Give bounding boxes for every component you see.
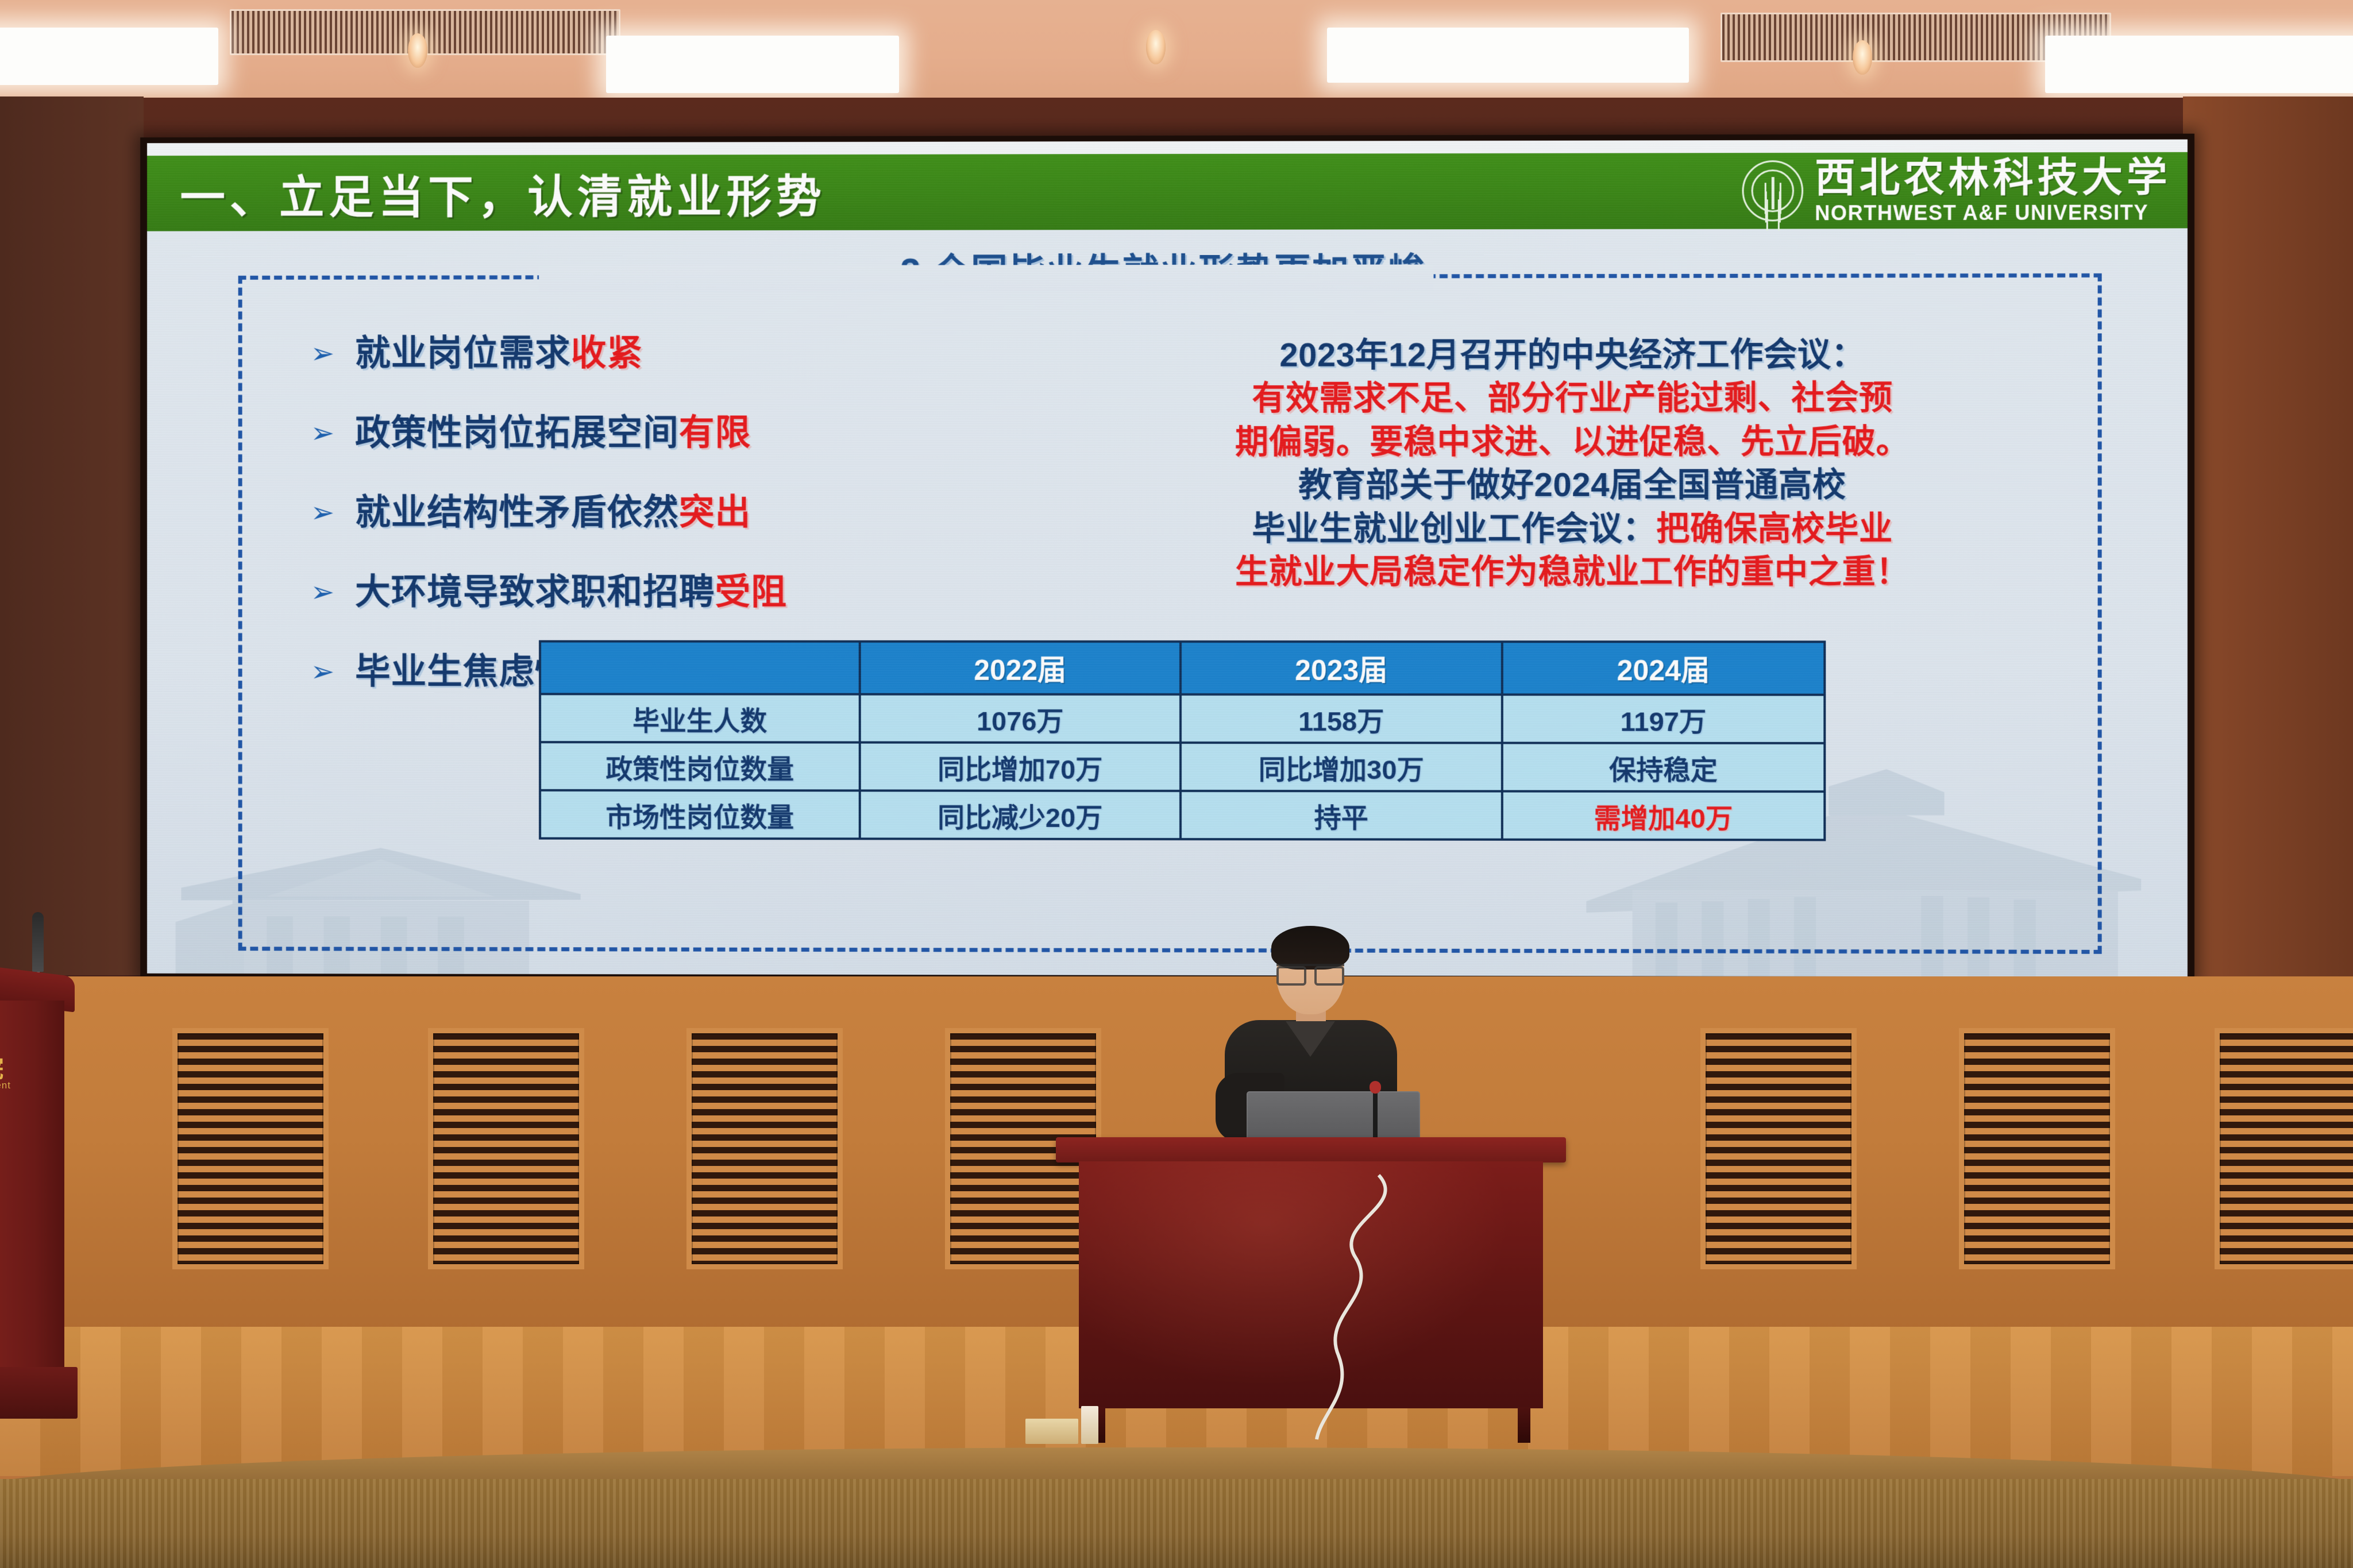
quote-line-2: 有效需求不足、部分行业产能过剩、社会预 <box>1123 376 2023 420</box>
lectern-podium: 院 ...ment <box>0 971 75 1436</box>
slide-title-band: 一、立足当下，认清就业形势 西北农林科技大学 NORTHWEST A&F UNI… <box>147 152 2188 231</box>
section-title: 一、立足当下，认清就业形势 <box>180 160 826 226</box>
table-cell: 同比增加30万 <box>1181 743 1502 791</box>
university-seal-icon <box>1742 160 1804 221</box>
desk-top <box>1056 1137 1566 1163</box>
presentation-slide: 一、立足当下，认清就业形势 西北农林科技大学 NORTHWEST A&F UNI… <box>147 140 2188 978</box>
ceiling-light-panel <box>606 36 899 93</box>
wall-vent-grille-icon <box>686 1028 843 1269</box>
table-cell: 1076万 <box>860 694 1181 743</box>
quote-line-3: 期偏弱。要稳中求进、以进促稳、先立后破。 <box>1123 420 2023 464</box>
bullet-highlight: 有限 <box>679 413 751 453</box>
chevron-right-icon: ➢ <box>311 339 335 368</box>
row-label: 政策性岗位数量 <box>540 742 860 790</box>
chevron-right-icon: ➢ <box>311 498 335 527</box>
ceiling-light-panel <box>1327 28 1689 83</box>
wall-vent-grille-icon <box>1700 1028 1857 1269</box>
upper-wall-left <box>0 96 144 975</box>
list-item: ➢ 就业岗位需求收紧 <box>311 323 1077 376</box>
quote-line-4: 教育部关于做好2024届全国普通高校 <box>1123 464 2023 507</box>
projection-screen: 一、立足当下，认清就业形势 西北农林科技大学 NORTHWEST A&F UNI… <box>140 134 2194 983</box>
wall-vent-grille-icon <box>172 1028 329 1269</box>
power-box-icon <box>1025 1419 1078 1444</box>
list-item: ➢ 大环境导致求职和招聘受阻 <box>311 563 1077 615</box>
ceiling-light-panel <box>2045 36 2353 93</box>
bullet-highlight: 收紧 <box>571 334 643 373</box>
bullet-label: 就业结构性矛盾依然突出 <box>355 483 751 535</box>
lectern-base <box>0 1367 78 1419</box>
wall-vent-grille-icon <box>2215 1028 2353 1269</box>
wall-vent-grille-icon <box>1959 1028 2115 1269</box>
university-name-cn: 西北农林科技大学 <box>1815 157 2171 198</box>
glasses-icon <box>1276 964 1344 979</box>
graduate-employment-table: 2022届 2023届 2024届 毕业生人数 1076万 1158万 1197… <box>539 640 1826 841</box>
table-cell-highlight: 需增加40万 <box>1502 791 1824 840</box>
slide-content-box: ➢ 就业岗位需求收紧 ➢ 政策性岗位拓展空间有限 ➢ 就业结构性矛盾依然突出 ➢… <box>238 273 2102 954</box>
university-brand: 西北农林科技大学 NORTHWEST A&F UNIVERSITY <box>1742 157 2171 224</box>
bullet-label: 政策性岗位拓展空间有限 <box>355 403 751 455</box>
subtitle-gap-mask <box>539 264 1434 292</box>
university-name-en: NORTHWEST A&F UNIVERSITY <box>1815 202 2171 223</box>
quote-line-1: 2023年12月召开的中央经济工作会议： <box>1123 333 2023 377</box>
row-label: 毕业生人数 <box>540 694 860 742</box>
table-row: 毕业生人数 1076万 1158万 1197万 <box>540 694 1824 743</box>
table-header-row: 2022届 2023届 2024届 <box>540 642 1824 695</box>
list-item: ➢ 就业结构性矛盾依然突出 <box>311 483 1077 535</box>
ceiling-light-panel <box>0 28 218 85</box>
table-cell: 同比增加70万 <box>860 743 1181 791</box>
presenter-hair <box>1271 926 1349 970</box>
table-header-2023: 2023届 <box>1181 642 1502 694</box>
table-cell: 持平 <box>1181 791 1502 840</box>
quote-line-6: 生就业大局稳定作为稳就业工作的重中之重！ <box>1123 550 2023 594</box>
table-row: 政策性岗位数量 同比增加70万 同比增加30万 保持稳定 <box>540 742 1824 791</box>
bullet-highlight: 受阻 <box>715 573 787 612</box>
chevron-right-icon: ➢ <box>311 657 335 686</box>
bullet-label: 大环境导致求职和招聘受阻 <box>355 563 787 615</box>
lectern-label-en: ...ment <box>0 1080 11 1091</box>
lectern-body: 院 ...ment <box>0 1001 64 1368</box>
bullet-label: 就业岗位需求收紧 <box>355 324 643 376</box>
ceiling-downlight-icon <box>1146 30 1166 64</box>
list-item: ➢ 政策性岗位拓展空间有限 <box>311 403 1077 455</box>
table-cell: 1158万 <box>1181 694 1502 743</box>
presenter-desk <box>1070 1137 1552 1447</box>
power-box-icon <box>1081 1406 1098 1444</box>
table-cell: 保持稳定 <box>1502 743 1824 791</box>
ceiling-downlight-icon <box>1853 40 1872 75</box>
desk-microphone-icon <box>1373 1090 1378 1143</box>
bullet-highlight: 突出 <box>679 493 751 532</box>
ceiling-downlight-icon <box>408 33 427 68</box>
policy-quote-block: 2023年12月召开的中央经济工作会议： 有效需求不足、部分行业产能过剩、社会预… <box>1123 333 2023 594</box>
table-row: 市场性岗位数量 同比减少20万 持平 需增加40万 <box>540 790 1824 840</box>
stage-apron <box>0 1479 2353 1568</box>
table-header-blank <box>540 642 860 694</box>
row-label: 市场性岗位数量 <box>540 790 860 839</box>
chevron-right-icon: ➢ <box>311 419 335 447</box>
table-header-2022: 2022届 <box>860 642 1181 694</box>
table-cell: 1197万 <box>1502 694 1824 743</box>
desk-front <box>1079 1161 1543 1408</box>
table-header-2024: 2024届 <box>1502 642 1824 694</box>
wall-vent-grille-icon <box>428 1028 584 1269</box>
ceiling <box>0 0 2353 102</box>
upper-wall-right <box>2183 96 2353 992</box>
lecture-hall-scene: 一、立足当下，认清就业形势 西北农林科技大学 NORTHWEST A&F UNI… <box>0 0 2353 1568</box>
microphone-icon <box>32 912 44 972</box>
chevron-right-icon: ➢ <box>311 578 335 607</box>
table-cell: 同比减少20万 <box>860 790 1181 839</box>
desk-leg <box>1518 1407 1530 1443</box>
quote-line-5: 毕业生就业创业工作会议：把确保高校毕业 <box>1123 507 2023 550</box>
lectern-label-cn: 院 <box>0 1048 5 1084</box>
